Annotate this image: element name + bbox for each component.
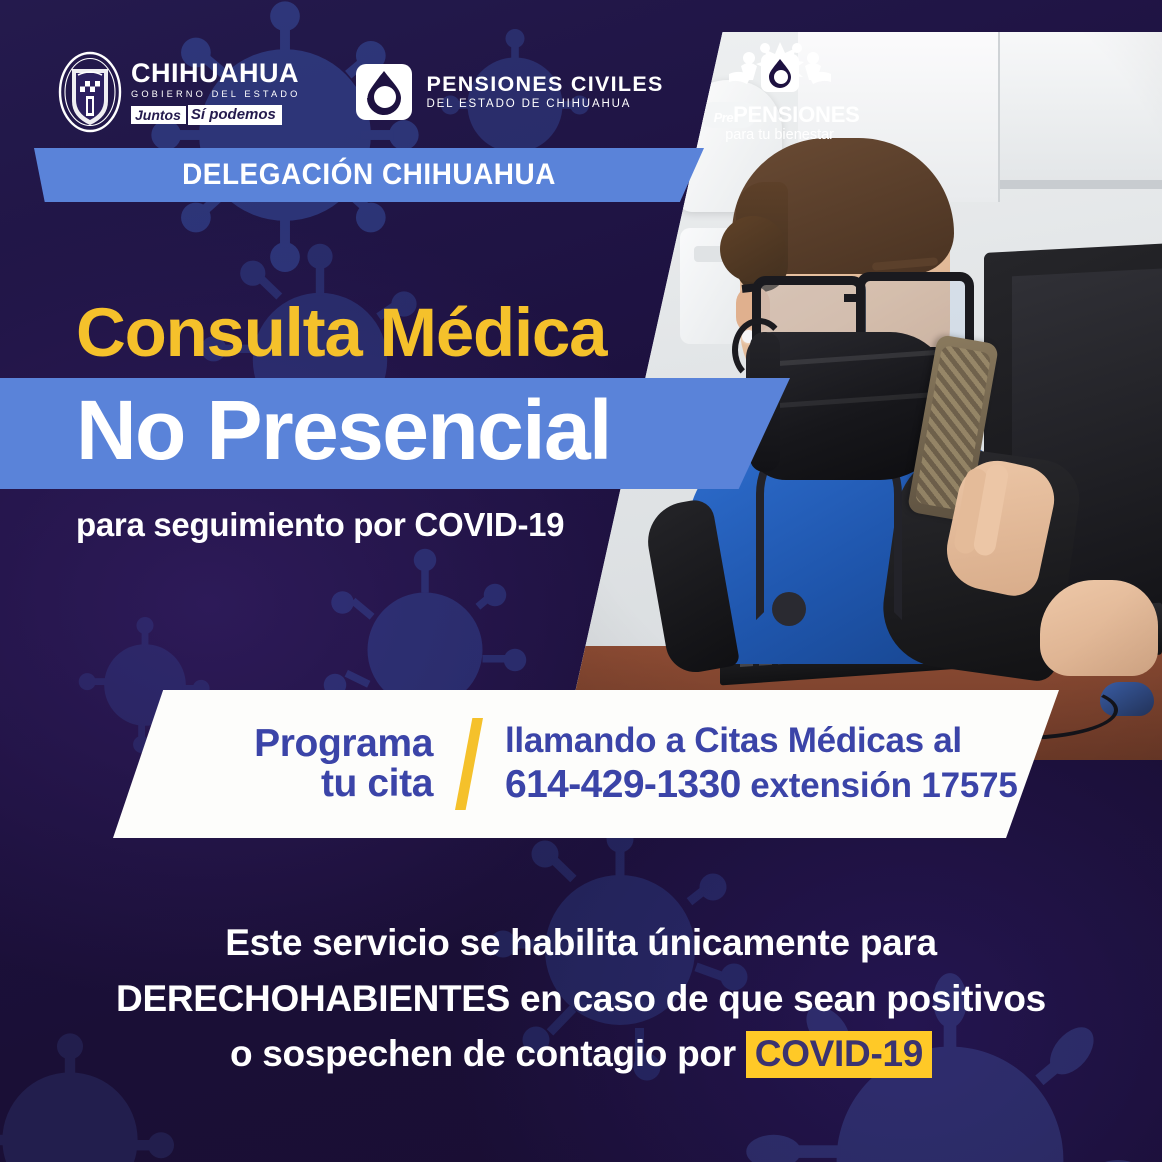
tagline-si-podemos: Sí podemos — [188, 105, 282, 125]
people-burst-drop-icon — [725, 42, 835, 104]
header-logos: CHIHUAHUA GOBIERNO DEL ESTADO Juntos Sí … — [58, 42, 846, 143]
footer-line-2: DERECHOHABIENTES en caso de que sean pos… — [0, 971, 1162, 1027]
yellow-slash-divider-icon — [455, 718, 483, 810]
logo-prepensiones: PrePENSIONES para tu bienestar — [714, 42, 846, 143]
water-drop-square-icon — [354, 62, 414, 122]
covid-19-highlight-badge: COVID-19 — [746, 1031, 932, 1078]
tagline-juntos: Juntos — [131, 106, 186, 125]
card-phone-line: 614-429-1330 extensión 17575 — [505, 764, 1018, 806]
prepensiones-subtitle: para tu bienestar — [714, 128, 846, 143]
chihuahua-subtitle: GOBIERNO DEL ESTADO — [131, 90, 300, 99]
card-extension-label: extensión — [750, 766, 912, 805]
appointment-contact-card: Programa tu cita llamando a Citas Médica… — [113, 690, 1059, 838]
footer-line-1: Este servicio se habilita únicamente par… — [0, 915, 1162, 971]
logo-chihuahua-government: CHIHUAHUA GOBIERNO DEL ESTADO Juntos Sí … — [58, 51, 300, 133]
delegation-banner-label: DELEGACIÓN CHIHUAHUA — [182, 158, 556, 192]
prepensiones-prefix: Pre — [714, 110, 733, 125]
pensiones-subtitle: DEL ESTADO DE CHIHUAHUA — [426, 99, 663, 111]
card-left-label: Programa tu cita — [171, 724, 433, 804]
prepensiones-title: PrePENSIONES — [714, 104, 846, 126]
card-right-content: llamando a Citas Médicas al 614-429-1330… — [505, 722, 1018, 806]
poster: CHIHUAHUA GOBIERNO DEL ESTADO Juntos Sí … — [0, 0, 1162, 1162]
coat-of-arms-shield-icon — [58, 51, 122, 133]
headline-line-2: No Presencial — [76, 388, 611, 472]
footer-line-3-prefix: o sospechen de contagio por — [230, 1033, 746, 1074]
prepensiones-main: PENSIONES — [733, 102, 860, 127]
card-programa-line: Programa — [171, 724, 433, 764]
headline-subline: para seguimiento por COVID-19 — [76, 508, 564, 541]
footer-copy: Este servicio se habilita únicamente par… — [0, 915, 1162, 1082]
card-call-instruction: llamando a Citas Médicas al — [505, 722, 1018, 760]
pensiones-title: PENSIONES CIVILES — [426, 74, 663, 96]
card-tucita-line: tu cita — [171, 764, 433, 804]
logo-pensiones-civiles: PENSIONES CIVILES DEL ESTADO DE CHIHUAHU… — [354, 62, 663, 122]
card-phone-number[interactable]: 614-429-1330 — [505, 763, 741, 806]
chihuahua-tagline: Juntos Sí podemos — [131, 105, 300, 125]
headline-line-1: Consulta Médica — [76, 298, 606, 367]
footer-line-3: o sospechen de contagio por COVID-19 — [0, 1026, 1162, 1082]
card-extension-number: 17575 — [921, 766, 1017, 805]
chihuahua-title: CHIHUAHUA — [131, 60, 300, 87]
delegation-banner: DELEGACIÓN CHIHUAHUA — [34, 148, 704, 202]
